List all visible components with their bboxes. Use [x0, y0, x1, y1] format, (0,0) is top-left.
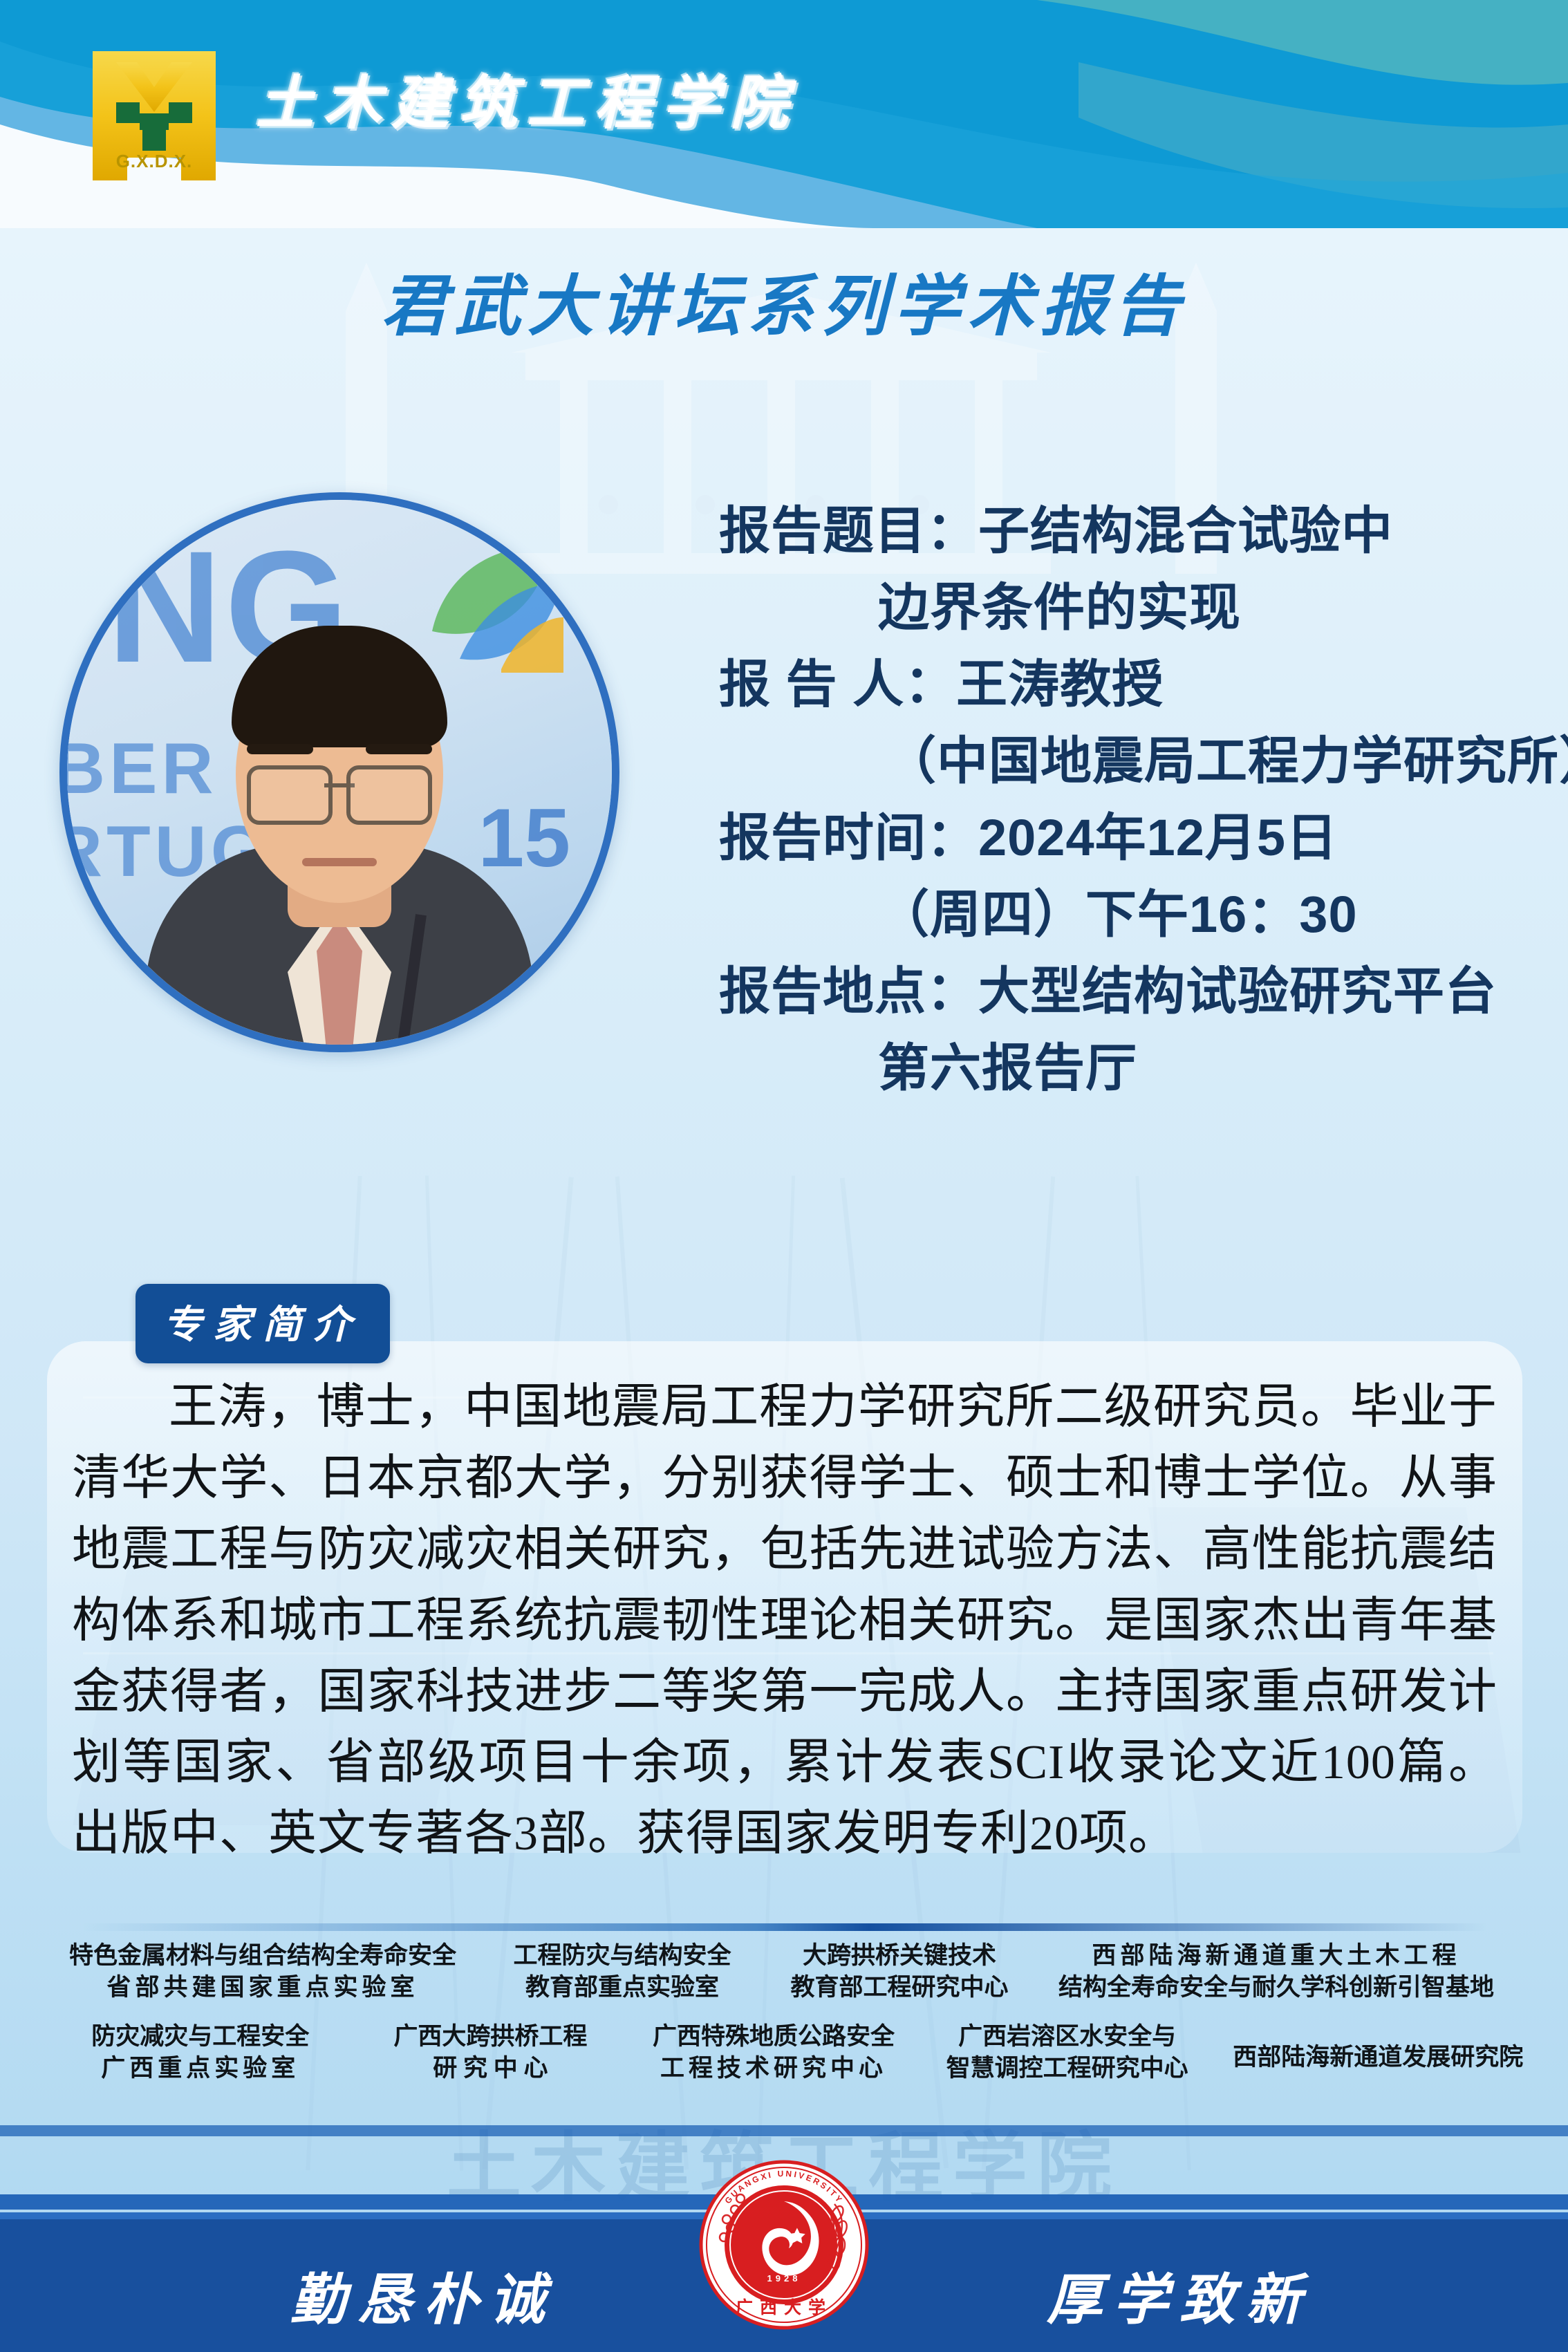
lab-line2: 智慧调控工程研究中心: [919, 2053, 1216, 2084]
speaker-row: 报 告 人：王涛教授: [719, 646, 1549, 722]
lab-line1: 大跨拱桥关键技术: [765, 1940, 1034, 1972]
speaker-portrait: NG BER 201 RTUGA 15: [59, 492, 619, 1052]
lab-item: 防灾减灾与工程安全 广西重点实验室: [55, 2021, 346, 2084]
lab-line2: 省部共建国家重点实验室: [48, 1972, 477, 2004]
lab-item: 广西特殊地质公路安全 工程技术研究中心: [628, 2021, 919, 2084]
backdrop-leaf-icon: [418, 528, 563, 673]
lab-line1: 广西大跨拱桥工程: [353, 2021, 629, 2053]
time-row: 报告时间：2024年12月5日: [719, 799, 1549, 876]
lab-item: 广西岩溶区水安全与 智慧调控工程研究中心: [919, 2021, 1216, 2084]
lab-line2: 广西重点实验室: [55, 2053, 346, 2084]
expert-bio-badge: 专家简介: [136, 1284, 390, 1363]
labs-row-2: 防灾减灾与工程安全 广西重点实验室 广西大跨拱桥工程 研 究 中 心 广西特殊地…: [41, 2021, 1527, 2084]
lab-line2: 研 究 中 心: [353, 2053, 629, 2084]
slogan-left: 勤恳朴诚: [290, 2255, 556, 2335]
backdrop-number: 15: [478, 790, 570, 886]
seal-year: 1928: [767, 2273, 801, 2284]
place-label: 报告地点：: [719, 962, 978, 1020]
lab-item: 西部陆海新通道重大土木工程 结构全寿命安全与耐久学科创新引智基地: [1055, 1940, 1497, 2003]
expert-bio-text: 王涛，博士，中国地震局工程力学研究所二级研究员。毕业于清华大学、日本京都大学，分…: [72, 1372, 1497, 1870]
speaker-name: 王涛教授: [956, 655, 1164, 713]
portrait-eyebrow-left: [247, 744, 313, 754]
page-title: 君武大讲坛系列学术报告: [0, 252, 1568, 348]
footer-divider: [82, 1923, 1488, 1931]
topic-label: 报告题目：: [719, 502, 978, 559]
place-row: 报告地点：大型结构试验研究平台: [719, 953, 1549, 1029]
time-label: 报告时间：: [719, 809, 978, 866]
speaker-label: 报 告 人：: [719, 655, 956, 713]
university-seal-icon: 1928 GUANGXI UNIVERSITY 广西大学: [699, 2160, 869, 2330]
affiliated-labs: 特色金属材料与组合结构全寿命安全 省部共建国家重点实验室 工程防灾与结构安全 教…: [41, 1940, 1527, 2084]
labs-row-1: 特色金属材料与组合结构全寿命安全 省部共建国家重点实验室 工程防灾与结构安全 教…: [41, 1940, 1527, 2003]
lab-line1: 西部陆海新通道重大土木工程: [1055, 1940, 1497, 1972]
decorative-stripe-1: [0, 2125, 1568, 2136]
slogan-right: 厚学致新: [1047, 2255, 1312, 2335]
place-line2-row: 第六报告厅: [719, 1029, 1549, 1106]
lab-line2: 教育部重点实验室: [484, 1972, 760, 2004]
lab-item: 广西大跨拱桥工程 研 究 中 心: [353, 2021, 629, 2084]
lab-line1: 广西岩溶区水安全与: [919, 2021, 1216, 2053]
lab-item: 西部陆海新通道发展研究院: [1229, 2021, 1527, 2073]
lab-line1: 工程防灾与结构安全: [484, 1940, 760, 1972]
time-line2-row: （周四）下午16：30: [719, 876, 1549, 953]
lab-line1: 特色金属材料与组合结构全寿命安全: [48, 1940, 477, 1972]
time-line1: 2024年12月5日: [978, 809, 1338, 866]
lab-line1: 西部陆海新通道发展研究院: [1229, 2042, 1527, 2073]
lab-line1: 广西特殊地质公路安全: [628, 2021, 919, 2053]
lab-item: 工程防灾与结构安全 教育部重点实验室: [484, 1940, 760, 2003]
lab-item: 特色金属材料与组合结构全寿命安全 省部共建国家重点实验室: [48, 1940, 477, 2003]
portrait-eyebrow-right: [366, 744, 432, 754]
university-logo-icon: G.X.D.X.: [88, 48, 220, 183]
poster-root: G.X.D.X. 土木建筑工程学院: [0, 0, 1568, 2352]
topic-row: 报告题目：子结构混合试验中: [719, 492, 1549, 569]
lab-line2: 结构全寿命安全与耐久学科创新引智基地: [1055, 1972, 1497, 2004]
seal-chinese: 广西大学: [736, 2297, 832, 2317]
lab-line2: 工程技术研究中心: [628, 2053, 919, 2084]
lecture-info-block: 报告题目：子结构混合试验中 边界条件的实现 报 告 人：王涛教授 （中国地震局工…: [719, 492, 1549, 1106]
topic-line2-row: 边界条件的实现: [719, 569, 1549, 646]
lab-line2: 教育部工程研究中心: [765, 1972, 1034, 2004]
lab-item: 大跨拱桥关键技术 教育部工程研究中心: [765, 1940, 1034, 2003]
lab-line1: 防灾减灾与工程安全: [55, 2021, 346, 2053]
topic-line1: 子结构混合试验中: [978, 502, 1393, 559]
svg-text:G.X.D.X.: G.X.D.X.: [116, 151, 193, 171]
college-name: 土木建筑工程学院: [256, 57, 798, 140]
speaker-affiliation: （中国地震局工程力学研究所）: [719, 722, 1549, 799]
place-line1: 大型结构试验研究平台: [978, 962, 1497, 1020]
portrait-glasses-icon: [247, 765, 432, 816]
portrait-mouth: [302, 858, 377, 866]
